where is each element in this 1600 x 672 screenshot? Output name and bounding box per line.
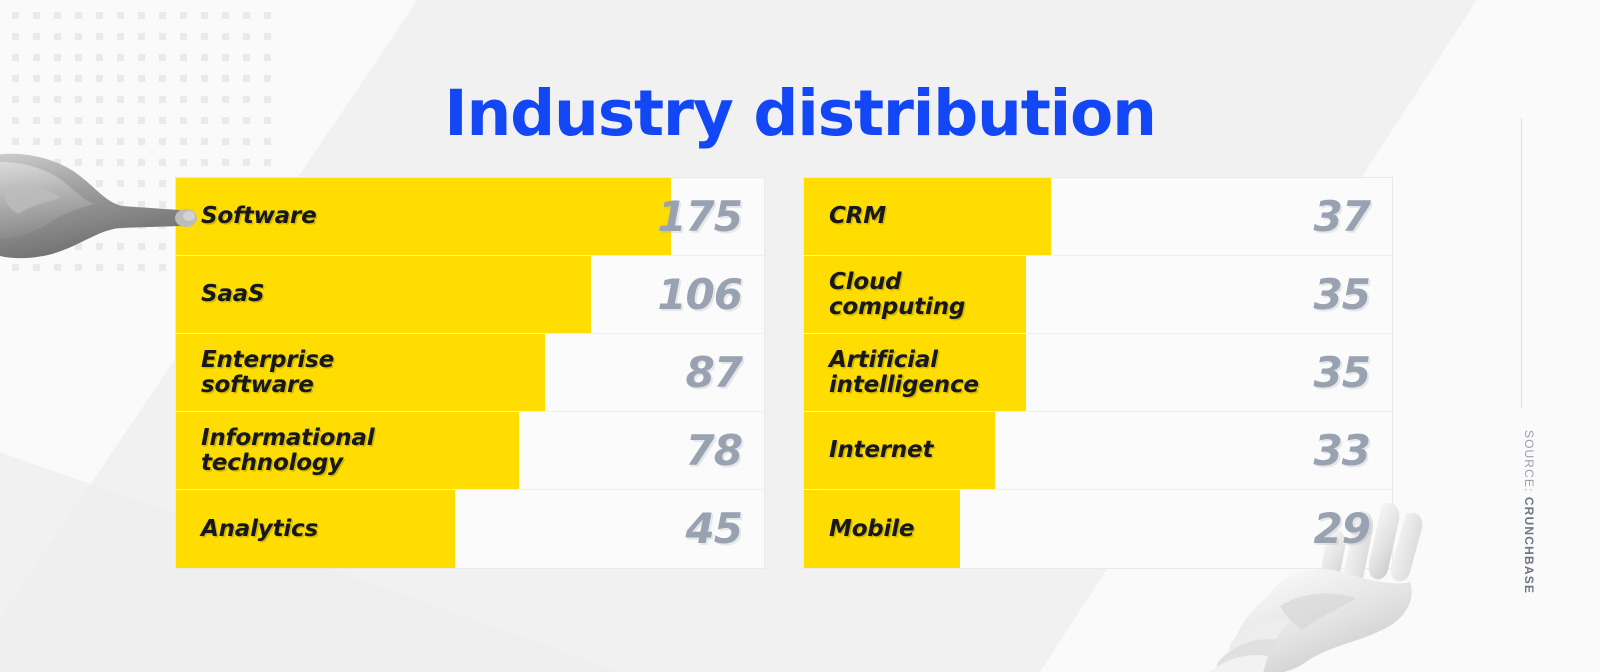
grid-dot xyxy=(54,33,61,40)
bar-chart-column-left: Software175SaaS106Enterprise software87I… xyxy=(175,177,765,569)
table-row[interactable]: Internet33 xyxy=(804,412,1392,490)
table-row[interactable]: CRM37 xyxy=(804,178,1392,256)
grid-dot xyxy=(243,54,250,61)
row-value: 35 xyxy=(1314,274,1370,316)
grid-dot xyxy=(243,159,250,166)
grid-dot xyxy=(54,54,61,61)
source-label: SOURCE: CRUNCHBASE xyxy=(1522,430,1536,594)
grid-dot xyxy=(117,54,124,61)
table-row[interactable]: Cloud computing35 xyxy=(804,256,1392,334)
row-value: 78 xyxy=(686,430,742,472)
grid-dot xyxy=(243,12,250,19)
grid-dot xyxy=(201,33,208,40)
grid-dot xyxy=(96,54,103,61)
grid-dot xyxy=(117,33,124,40)
grid-dot xyxy=(159,12,166,19)
grid-dot xyxy=(180,54,187,61)
grid-dot xyxy=(75,54,82,61)
row-label: Internet xyxy=(804,438,933,463)
grid-dot xyxy=(159,33,166,40)
grid-dot xyxy=(201,54,208,61)
row-value: 175 xyxy=(657,196,742,238)
row-label: SaaS xyxy=(176,282,264,307)
grid-dot xyxy=(33,12,40,19)
row-label: Analytics xyxy=(176,517,318,542)
row-label: Informational technology xyxy=(176,426,374,476)
pointing-hand-statue-icon xyxy=(0,150,204,270)
grid-dot xyxy=(54,12,61,19)
grid-dot xyxy=(75,12,82,19)
row-label: CRM xyxy=(804,204,886,229)
grid-dot xyxy=(264,159,271,166)
table-row[interactable]: Artificial intelligence35 xyxy=(804,334,1392,412)
grid-dot xyxy=(12,33,19,40)
row-value: 87 xyxy=(686,352,742,394)
row-value: 33 xyxy=(1314,430,1370,472)
row-label: Software xyxy=(176,204,316,229)
grid-dot xyxy=(33,33,40,40)
grid-dot xyxy=(264,12,271,19)
grid-dot xyxy=(222,12,229,19)
row-value: 37 xyxy=(1314,196,1370,238)
source-name: CRUNCHBASE xyxy=(1522,497,1536,594)
grid-dot xyxy=(201,12,208,19)
table-row[interactable]: Software175 xyxy=(176,178,764,256)
grid-dot xyxy=(180,12,187,19)
grid-dot xyxy=(222,33,229,40)
row-value: 106 xyxy=(657,274,742,316)
grid-dot xyxy=(138,54,145,61)
table-row[interactable]: Enterprise software87 xyxy=(176,334,764,412)
grid-dot xyxy=(159,54,166,61)
grid-dot xyxy=(12,12,19,19)
grid-dot xyxy=(138,12,145,19)
grid-dot xyxy=(12,54,19,61)
table-row[interactable]: Analytics45 xyxy=(176,490,764,568)
grid-dot xyxy=(222,54,229,61)
grid-dot xyxy=(96,12,103,19)
grid-dot xyxy=(75,33,82,40)
grid-dot xyxy=(138,33,145,40)
row-label: Mobile xyxy=(804,517,914,542)
row-value: 45 xyxy=(686,508,742,550)
grid-dot xyxy=(222,159,229,166)
row-value: 29 xyxy=(1314,508,1370,550)
source-prefix: SOURCE: xyxy=(1522,430,1536,497)
source-divider-line xyxy=(1521,118,1522,408)
page-title: Industry distribution xyxy=(0,78,1600,150)
row-value: 35 xyxy=(1314,352,1370,394)
grid-dot xyxy=(96,33,103,40)
row-label: Enterprise software xyxy=(176,348,334,398)
table-row[interactable]: Informational technology78 xyxy=(176,412,764,490)
grid-dot xyxy=(264,54,271,61)
grid-dot xyxy=(33,54,40,61)
grid-dot xyxy=(180,33,187,40)
row-label: Artificial intelligence xyxy=(804,348,979,398)
grid-dot xyxy=(243,33,250,40)
table-row[interactable]: SaaS106 xyxy=(176,256,764,334)
grid-dot xyxy=(117,12,124,19)
row-label: Cloud computing xyxy=(804,270,965,320)
grid-dot xyxy=(264,33,271,40)
